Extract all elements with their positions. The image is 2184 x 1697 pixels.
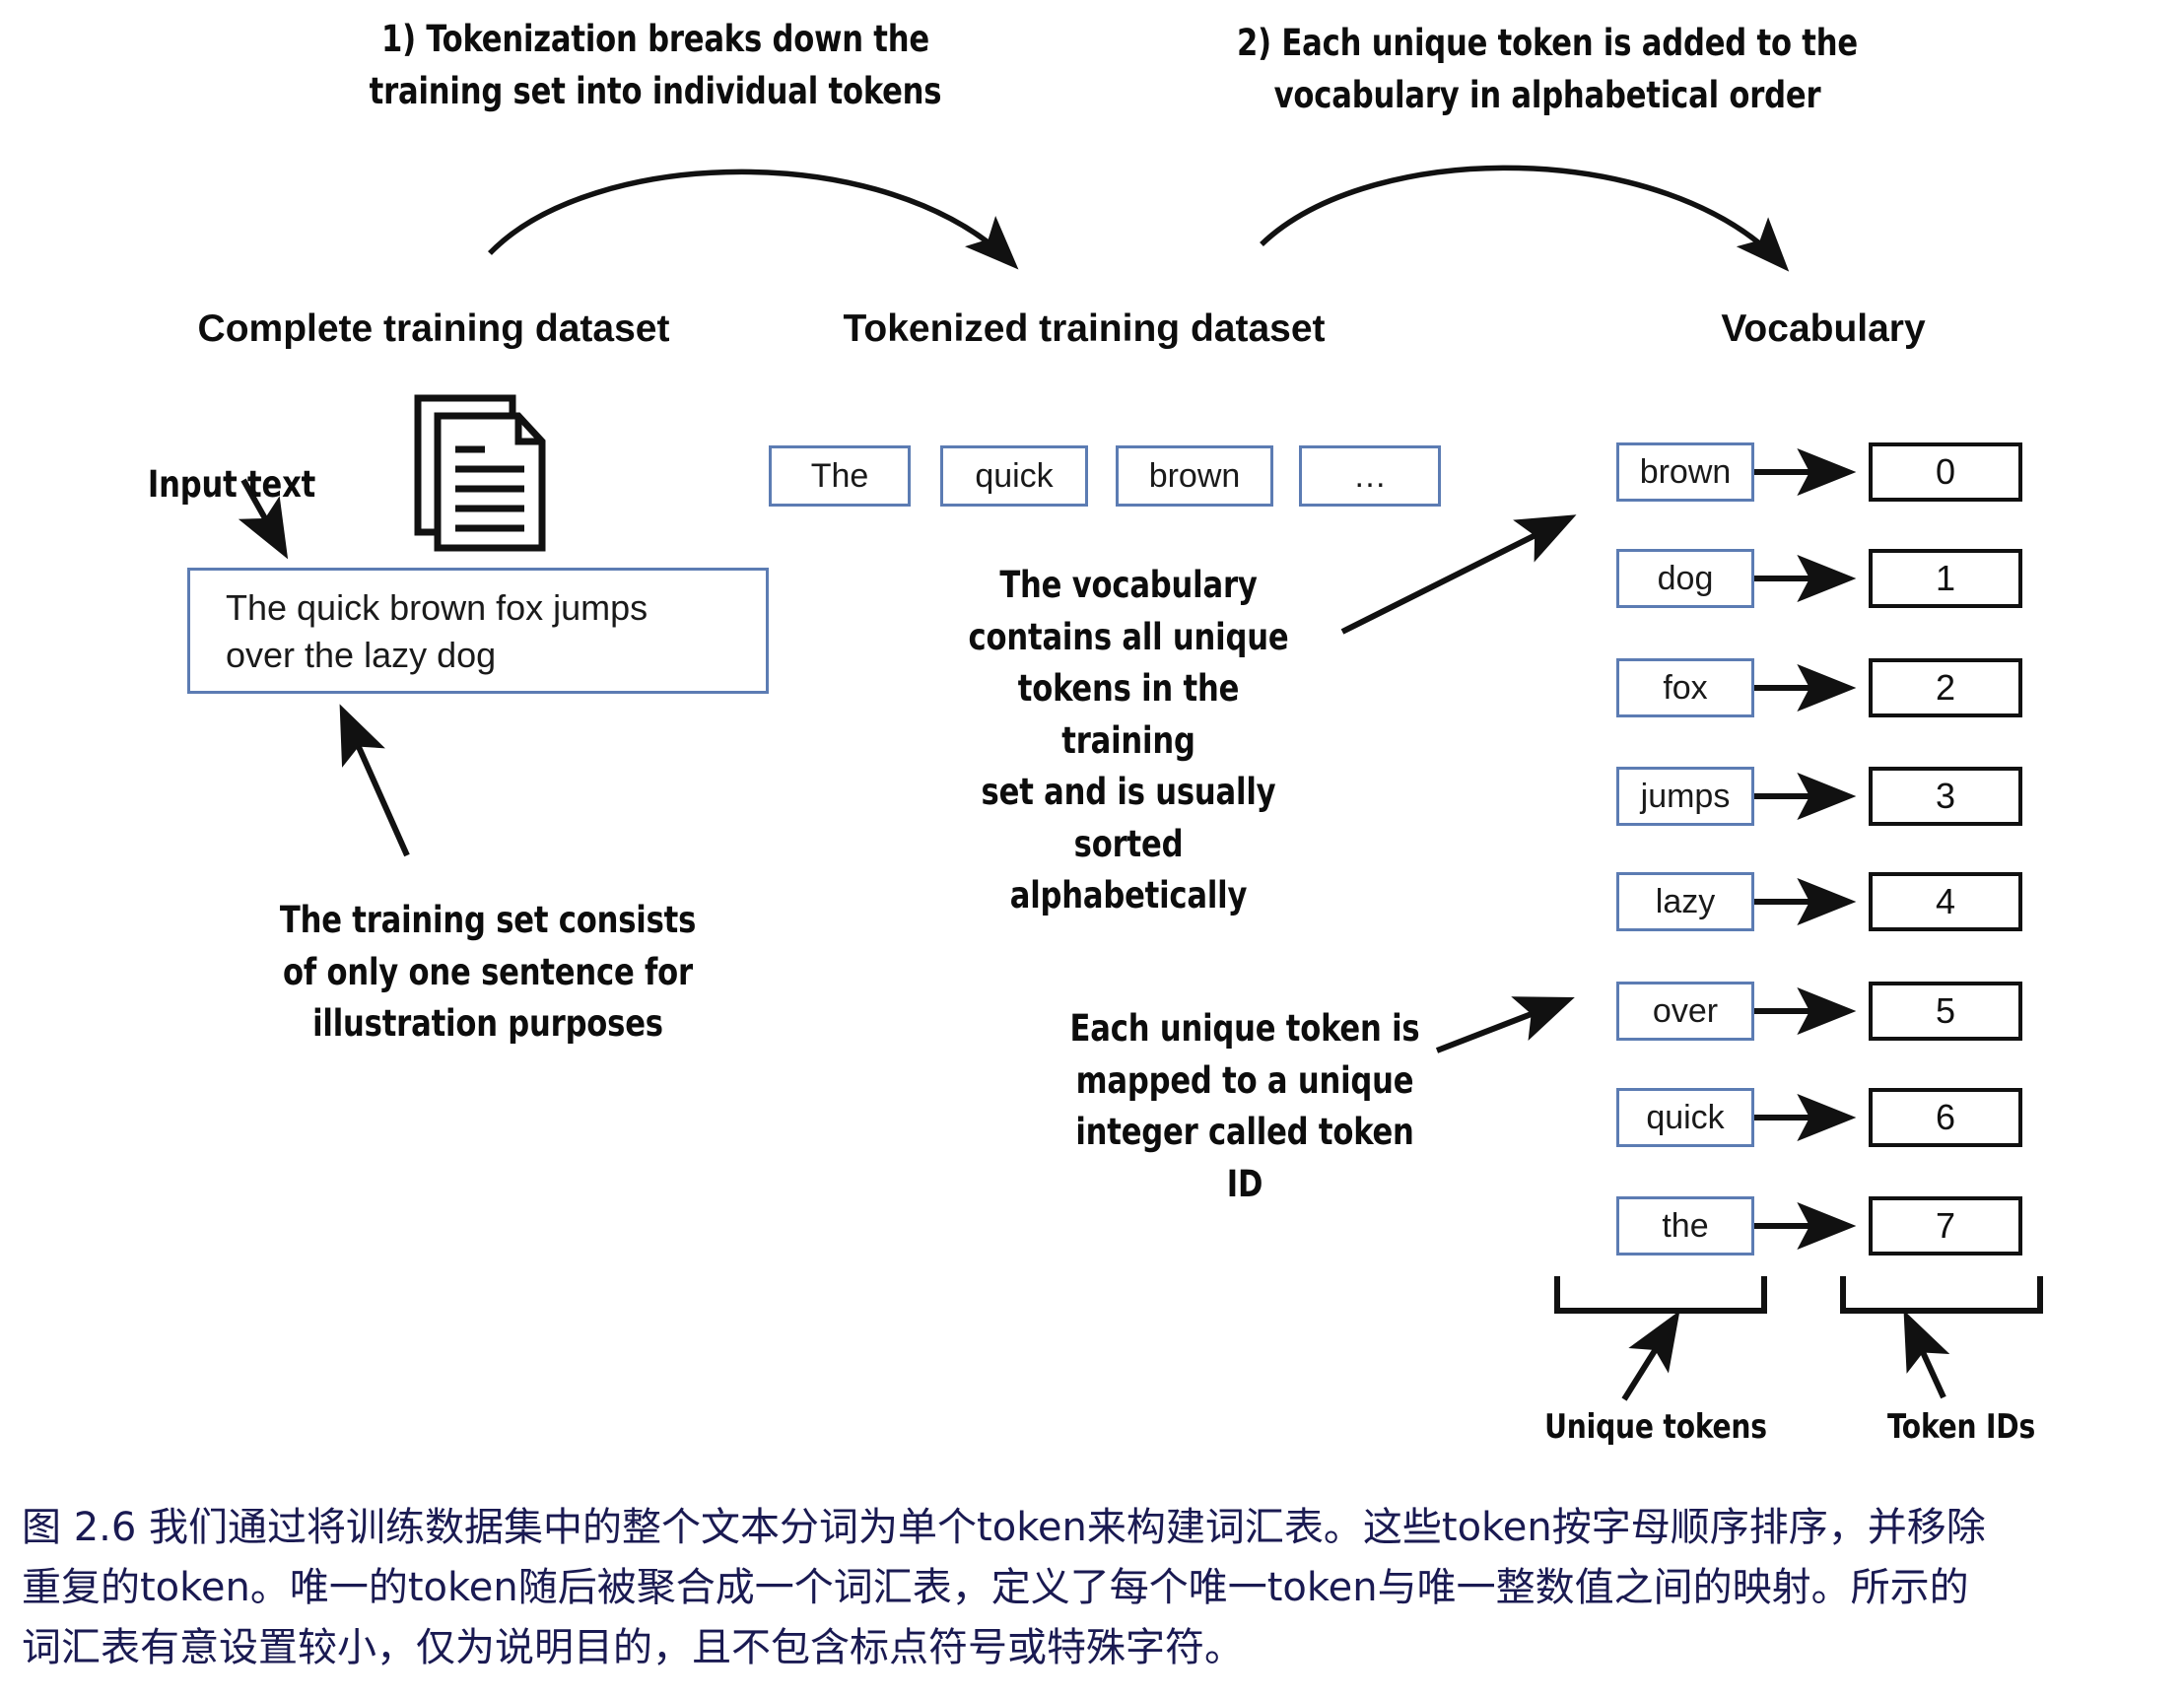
vocab-id-box-1[interactable]: 1 <box>1869 549 2022 608</box>
input-text-label: Input text <box>127 459 336 511</box>
vocab-token-label-4: lazy <box>1656 883 1715 921</box>
vocab-token-box-1[interactable]: dog <box>1616 549 1754 608</box>
training-set-note-line-3: illustration purposes <box>275 998 701 1051</box>
vocab-token-label-3: jumps <box>1641 778 1731 816</box>
vocab-id-box-5[interactable]: 5 <box>1869 982 2022 1041</box>
input-text-box[interactable]: The quick brown fox jumps over the lazy … <box>187 568 769 694</box>
token-ids-label-arrow <box>1907 1318 1944 1397</box>
vocab-note-line-6: alphabetically <box>961 870 1296 922</box>
vocab-token-label-1: dog <box>1658 560 1714 598</box>
figure-caption-line-3: 词汇表有意设置较小，仅为说明目的，且不包含标点符号或特殊字符。 <box>22 1618 2166 1678</box>
training-note-pointer-arrow <box>343 712 407 855</box>
vocab-token-box-5[interactable]: over <box>1616 982 1754 1041</box>
vocab-token-box-3[interactable]: jumps <box>1616 767 1754 826</box>
token-box-0[interactable]: The <box>769 445 911 507</box>
token-ids-bracket <box>1843 1276 2040 1311</box>
step-2-caption-line-1: 2) Each unique token is added to the <box>1202 18 1891 70</box>
vocab-token-box-0[interactable]: brown <box>1616 442 1754 502</box>
figure-caption-line-1: 图 2.6 我们通过将训练数据集中的整个文本分词为单个token来构建词汇表。这… <box>22 1498 2166 1558</box>
vocab-id-box-4[interactable]: 4 <box>1869 872 2022 931</box>
vocab-note-pointer-arrow <box>1342 518 1569 632</box>
training-set-note: The training set consists of only one se… <box>275 895 701 1051</box>
token-box-1-label: quick <box>975 457 1053 496</box>
step-1-caption-line-2: training set into individual tokens <box>324 66 987 118</box>
token-box-0-label: The <box>811 457 869 496</box>
tokenid-note-line-2: mapped to a unique <box>1068 1055 1422 1108</box>
vocab-id-label-0: 0 <box>1936 451 1955 493</box>
figure-caption: 图 2.6 我们通过将训练数据集中的整个文本分词为单个token来构建词汇表。这… <box>22 1498 2166 1677</box>
vocabulary-explanation-note: The vocabulary contains all unique token… <box>961 560 1296 922</box>
training-set-note-line-1: The training set consists <box>275 895 701 947</box>
step-1-caption: 1) Tokenization breaks down the training… <box>324 14 987 117</box>
unique-tokens-bracket <box>1557 1276 1764 1311</box>
vocab-token-label-5: over <box>1653 992 1718 1031</box>
step-1-caption-line-1: 1) Tokenization breaks down the <box>324 14 987 66</box>
vocab-id-label-3: 3 <box>1936 776 1955 817</box>
vocab-id-label-2: 2 <box>1936 667 1955 709</box>
unique-tokens-label: Unique tokens <box>1520 1403 1792 1451</box>
curved-arrow-step1 <box>490 171 1013 264</box>
token-box-1[interactable]: quick <box>940 445 1088 507</box>
vocab-token-box-6[interactable]: quick <box>1616 1088 1754 1147</box>
token-box-2-label: brown <box>1149 457 1241 496</box>
token-box-2[interactable]: brown <box>1116 445 1273 507</box>
vocab-id-box-7[interactable]: 7 <box>1869 1196 2022 1256</box>
vocab-id-label-1: 1 <box>1936 558 1955 599</box>
column-heading-tokenized-training-dataset: Tokenized training dataset <box>779 307 1390 351</box>
vocab-note-line-5: sorted <box>961 819 1296 871</box>
column-heading-vocabulary: Vocabulary <box>1616 307 2030 351</box>
step-2-caption: 2) Each unique token is added to the voc… <box>1202 18 1891 121</box>
vocab-note-line-4: set and is usually <box>961 767 1296 819</box>
tokenid-note-pointer-arrow <box>1437 1000 1567 1051</box>
token-ids-label: Token IDs <box>1834 1403 2088 1451</box>
column-heading-complete-training-dataset: Complete training dataset <box>148 307 719 351</box>
unique-tokens-label-arrow <box>1624 1318 1675 1399</box>
vocab-id-box-2[interactable]: 2 <box>1869 658 2022 717</box>
tokenid-note-line-3: integer called token <box>1068 1107 1422 1159</box>
input-text-line-1: The quick brown fox jumps <box>226 584 766 632</box>
figure-caption-line-2: 重复的token。唯一的token随后被聚合成一个词汇表，定义了每个唯一toke… <box>22 1558 2166 1618</box>
vocab-id-label-6: 6 <box>1936 1097 1955 1138</box>
vocab-id-label-7: 7 <box>1936 1205 1955 1247</box>
vocab-token-label-6: quick <box>1646 1099 1724 1137</box>
tokenid-note-line-4: ID <box>1068 1159 1422 1211</box>
vocab-id-label-5: 5 <box>1936 990 1955 1032</box>
training-set-note-line-2: of only one sentence for <box>275 947 701 999</box>
vocab-token-box-4[interactable]: lazy <box>1616 872 1754 931</box>
vocab-note-line-2: contains all unique <box>961 612 1296 664</box>
curved-arrow-step2 <box>1262 168 1784 266</box>
tokenid-note-line-1: Each unique token is <box>1068 1003 1422 1055</box>
step-2-caption-line-2: vocabulary in alphabetical order <box>1202 70 1891 122</box>
vocab-token-label-7: the <box>1662 1207 1708 1246</box>
input-text-line-2: over the lazy dog <box>226 632 766 679</box>
token-box-3-label: … <box>1353 457 1387 496</box>
vocab-note-line-1: The vocabulary <box>961 560 1296 612</box>
vocab-token-label-2: fox <box>1663 669 1707 708</box>
vocab-id-label-4: 4 <box>1936 881 1955 922</box>
vocab-id-box-3[interactable]: 3 <box>1869 767 2022 826</box>
vocab-token-label-0: brown <box>1640 453 1732 492</box>
vocab-id-box-6[interactable]: 6 <box>1869 1088 2022 1147</box>
token-id-explanation-note: Each unique token is mapped to a unique … <box>1068 1003 1422 1210</box>
token-to-id-arrows <box>1754 472 1848 1226</box>
vocab-token-box-2[interactable]: fox <box>1616 658 1754 717</box>
documents-icon <box>412 394 550 552</box>
vocab-id-box-0[interactable]: 0 <box>1869 442 2022 502</box>
token-box-3[interactable]: … <box>1299 445 1441 507</box>
vocab-token-box-7[interactable]: the <box>1616 1196 1754 1256</box>
vocab-note-line-3: tokens in the training <box>961 663 1296 767</box>
